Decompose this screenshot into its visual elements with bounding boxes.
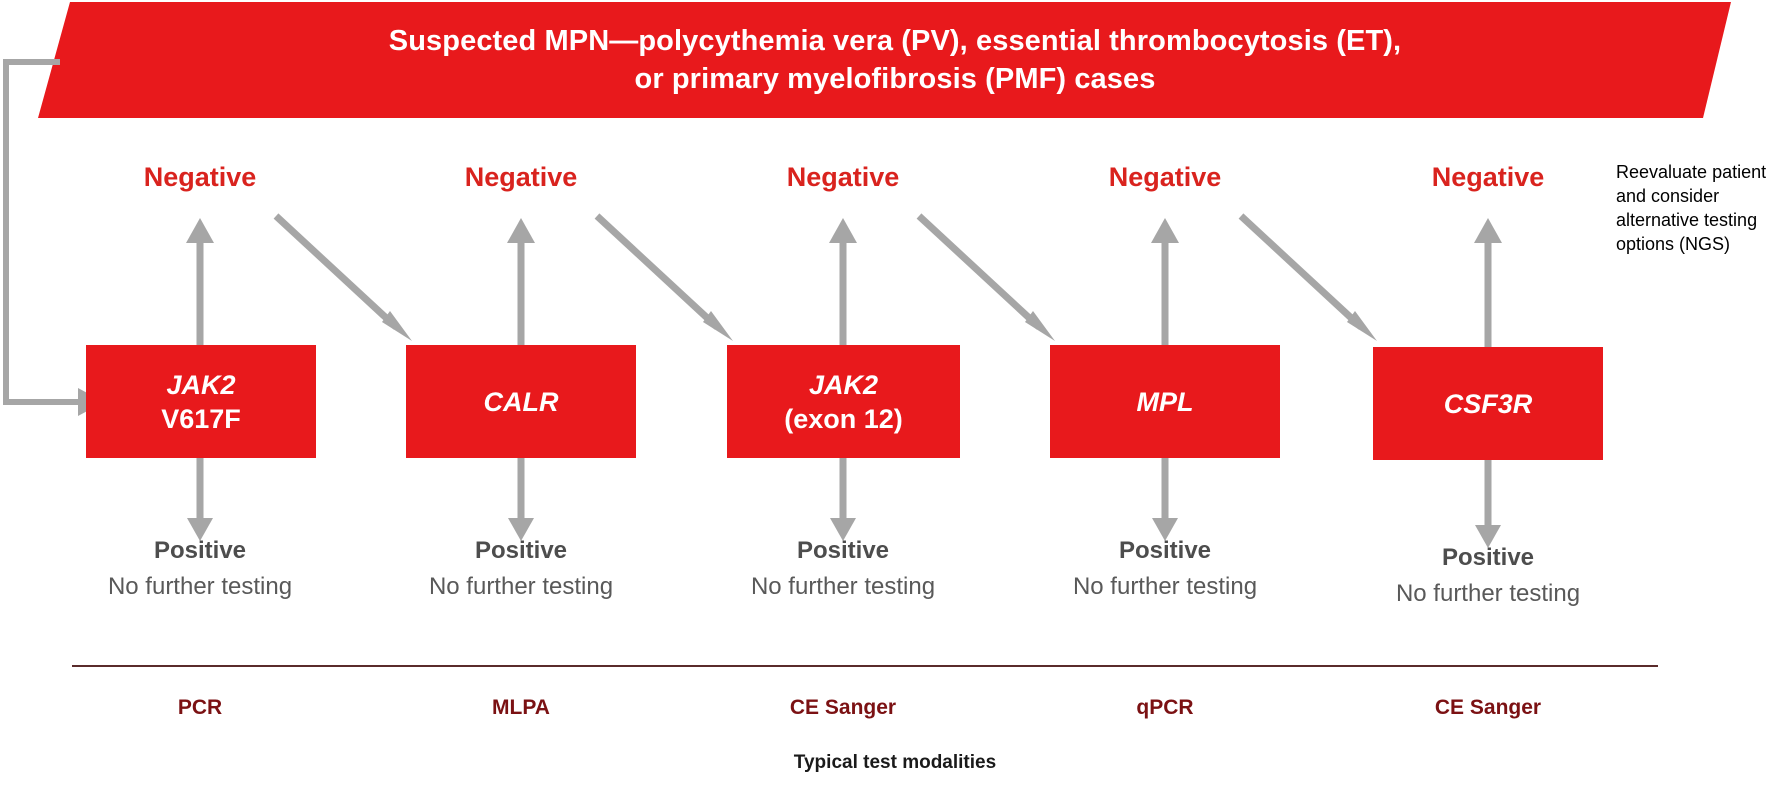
modality-label-col-5: CE Sanger: [1358, 696, 1618, 720]
positive-label-col-3: Positive: [693, 537, 993, 565]
reevaluate-note: Reevaluate patient and consider alternat…: [1616, 160, 1786, 256]
no-further-testing-col-2: No further testing: [371, 573, 671, 601]
column-calr: Negative CALR Positive No further testin…: [391, 0, 651, 789]
modality-label-col-2: MLPA: [391, 696, 651, 720]
gene-name-italic-col-2: CALR: [484, 385, 559, 419]
modality-label-col-4: qPCR: [1035, 696, 1295, 720]
positive-label-col-4: Positive: [1015, 537, 1315, 565]
column-jak2-v617f: Negative JAK2 V617F Positive No further …: [70, 0, 330, 789]
column-csf3r: Negative CSF3R Positive No further testi…: [1358, 0, 1618, 789]
negative-label-col-1: Negative: [70, 162, 330, 192]
gene-box-jak2-exon12[interactable]: JAK2 (exon 12): [727, 345, 960, 458]
positive-label-col-5: Positive: [1338, 544, 1638, 572]
column-mpl: Negative MPL Positive No further testing: [1035, 0, 1295, 789]
gene-name-italic-col-5: CSF3R: [1444, 387, 1533, 421]
no-further-testing-col-1: No further testing: [50, 573, 350, 601]
gene-box-jak2-v617f[interactable]: JAK2 V617F: [86, 345, 316, 458]
no-further-testing-col-3: No further testing: [693, 573, 993, 601]
no-further-testing-col-5: No further testing: [1338, 580, 1638, 608]
typical-test-modalities-caption: Typical test modalities: [595, 752, 1195, 774]
gene-box-csf3r[interactable]: CSF3R: [1373, 347, 1603, 460]
gene-name-italic-col-4: MPL: [1137, 385, 1194, 419]
gene-name-plain-col-1: V617F: [161, 402, 241, 436]
negative-label-col-5: Negative: [1358, 162, 1618, 192]
gene-box-mpl[interactable]: MPL: [1050, 345, 1280, 458]
gene-box-calr[interactable]: CALR: [406, 345, 636, 458]
modality-divider: [72, 665, 1658, 667]
gene-name-italic-col-1: JAK2: [161, 368, 241, 402]
negative-label-col-4: Negative: [1035, 162, 1295, 192]
positive-label-col-2: Positive: [371, 537, 671, 565]
flowchart-canvas: Suspected MPN—polycythemia vera (PV), es…: [0, 0, 1790, 789]
column-jak2-exon12: Negative JAK2 (exon 12) Positive No furt…: [713, 0, 973, 789]
gene-name-italic-col-3: JAK2: [784, 368, 903, 402]
negative-label-col-3: Negative: [713, 162, 973, 192]
gene-name-plain-col-3: (exon 12): [784, 402, 903, 436]
no-further-testing-col-4: No further testing: [1015, 573, 1315, 601]
negative-label-col-2: Negative: [391, 162, 651, 192]
modality-label-col-3: CE Sanger: [713, 696, 973, 720]
modality-label-col-1: PCR: [70, 696, 330, 720]
positive-label-col-1: Positive: [50, 537, 350, 565]
